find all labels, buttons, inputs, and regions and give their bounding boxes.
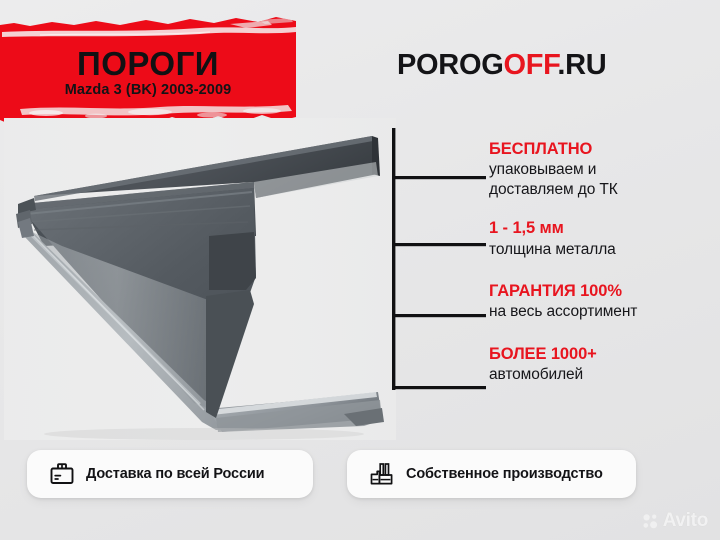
- product-photo: [4, 118, 396, 440]
- feature-detail-line-1: упаковываем и: [489, 160, 714, 180]
- logo-part-off: OFF: [503, 49, 557, 81]
- car-sill-illustration: [4, 118, 396, 440]
- feature-item-thickness: 1 - 1,5 мм толщина металла: [489, 218, 714, 259]
- feature-headline: БЕСПЛАТНО: [489, 139, 714, 160]
- avito-dots-icon: [642, 513, 659, 530]
- banner-text-block: ПОРОГИ Mazda 3 (BK) 2003-2009: [0, 16, 296, 128]
- bracket-lines: [390, 128, 488, 390]
- feature-detail-line-1: толщина металла: [489, 240, 714, 260]
- feature-item-vehicle-count: БОЛЕЕ 1000+ автомобилей: [489, 344, 714, 385]
- factory-icon: [369, 461, 395, 487]
- feature-headline: БОЛЕЕ 1000+: [489, 344, 714, 365]
- feature-item-warranty: ГАРАНТИЯ 100% на весь ассортимент: [489, 281, 714, 322]
- feature-headline: ГАРАНТИЯ 100%: [489, 281, 714, 302]
- promo-image-canvas: ПОРОГИ Mazda 3 (BK) 2003-2009 POROGOFF.R…: [0, 0, 720, 540]
- avito-watermark: Avito: [642, 510, 708, 532]
- red-brush-banner: ПОРОГИ Mazda 3 (BK) 2003-2009: [0, 16, 296, 128]
- avito-watermark-text: Avito: [663, 510, 708, 532]
- page-title: ПОРОГИ: [77, 47, 219, 80]
- feature-detail-line-1: автомобилей: [489, 365, 714, 385]
- feature-list: БЕСПЛАТНО упаковываем и доставляем до ТК…: [489, 139, 714, 385]
- feature-item-free-shipping: БЕСПЛАТНО упаковываем и доставляем до ТК: [489, 139, 714, 200]
- badge-delivery: Доставка по всей России: [27, 450, 313, 498]
- feature-headline: 1 - 1,5 мм: [489, 218, 714, 239]
- badge-own-production: Собственное производство: [347, 450, 636, 498]
- feature-detail-line-1: на весь ассортимент: [489, 302, 714, 322]
- badge-label: Собственное производство: [406, 466, 603, 482]
- box-icon: [49, 461, 75, 487]
- brand-logo: POROGOFF.RU: [397, 51, 606, 80]
- logo-part-ru: .RU: [557, 49, 606, 81]
- feature-detail-line-2: доставляем до ТК: [489, 180, 714, 200]
- badge-label: Доставка по всей России: [86, 466, 264, 482]
- feature-bracket: [390, 128, 488, 390]
- trust-badges: Доставка по всей России Собственное прои…: [27, 450, 693, 498]
- vehicle-model-subtitle: Mazda 3 (BK) 2003-2009: [65, 83, 232, 98]
- logo-part-porog: POROG: [397, 49, 503, 81]
